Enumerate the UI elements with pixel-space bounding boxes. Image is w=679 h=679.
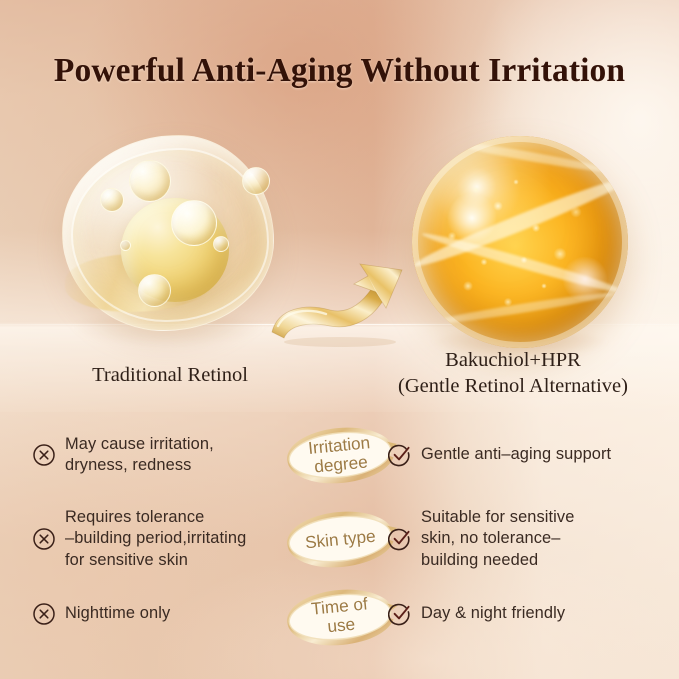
oil-bubble bbox=[138, 274, 171, 307]
oil-bubble bbox=[100, 188, 124, 212]
caption-bakuchiol-hpr: Bakuchiol+HPR (Gentle Retinol Alternativ… bbox=[358, 348, 668, 399]
comparison-right-text: Day & night friendly bbox=[421, 603, 565, 624]
comparison-right-text: Suitable for sensitive skin, no toleranc… bbox=[421, 507, 574, 571]
oil-swirl bbox=[65, 254, 215, 312]
oil-bubble bbox=[171, 200, 217, 246]
comparison-cell-right: Day & night friendly bbox=[388, 583, 664, 645]
oil-bubble bbox=[213, 236, 229, 252]
comparison-cell-right: Suitable for sensitive skin, no toleranc… bbox=[388, 495, 664, 583]
caption-line-2: (Gentle Retinol Alternative) bbox=[358, 374, 668, 400]
product-image-bakuchiol-hpr bbox=[404, 132, 636, 360]
comparison-cell-left: Requires tolerance –building period,irri… bbox=[32, 495, 290, 583]
cross-circle-icon bbox=[32, 527, 56, 551]
oil-bubble bbox=[129, 160, 171, 202]
page-title: Powerful Anti-Aging Without Irritation bbox=[0, 52, 679, 90]
comparison-left-text: Requires tolerance –building period,irri… bbox=[65, 507, 246, 571]
sphere-rim bbox=[412, 136, 628, 348]
check-circle-icon bbox=[388, 602, 412, 626]
comparison-row: Requires tolerance –building period,irri… bbox=[0, 495, 679, 583]
product-image-traditional-retinol bbox=[48, 127, 288, 342]
gold-curved-arrow bbox=[268, 248, 414, 348]
comparison-right-text: Gentle anti–aging support bbox=[421, 444, 611, 465]
cross-circle-icon bbox=[32, 443, 56, 467]
comparison-cell-left: May cause irritation, dryness, redness bbox=[32, 415, 290, 495]
oil-bubble-outer bbox=[242, 167, 270, 195]
comparison-row: Nighttime only bbox=[0, 583, 679, 645]
badge-label: Time of use bbox=[310, 594, 370, 637]
oil-droplet-shell bbox=[62, 135, 274, 331]
badge-skin-type: Skin type bbox=[279, 503, 401, 575]
comparison-cell-left: Nighttime only bbox=[32, 583, 290, 645]
comparison-left-text: May cause irritation, dryness, redness bbox=[65, 434, 214, 477]
comparison-cell-right: Gentle anti–aging support bbox=[388, 415, 664, 495]
badge-time-of-use: Time of use bbox=[279, 581, 401, 651]
caption-line-1: Bakuchiol+HPR bbox=[358, 348, 668, 374]
caption-traditional-retinol: Traditional Retinol bbox=[20, 363, 320, 389]
comparison-left-text: Nighttime only bbox=[65, 603, 170, 624]
check-circle-icon bbox=[388, 527, 412, 551]
badge-irritation-degree: Irritation degree bbox=[279, 419, 401, 491]
oil-core-bubble bbox=[121, 198, 229, 302]
oil-bubble bbox=[120, 240, 131, 251]
cross-circle-icon bbox=[32, 602, 56, 626]
check-circle-icon bbox=[388, 443, 412, 467]
comparison-table: May cause irritation, dryness, redness bbox=[0, 415, 679, 645]
comparison-row: May cause irritation, dryness, redness bbox=[0, 415, 679, 495]
amber-sphere bbox=[412, 136, 628, 348]
badge-label: Irritation degree bbox=[307, 433, 372, 477]
